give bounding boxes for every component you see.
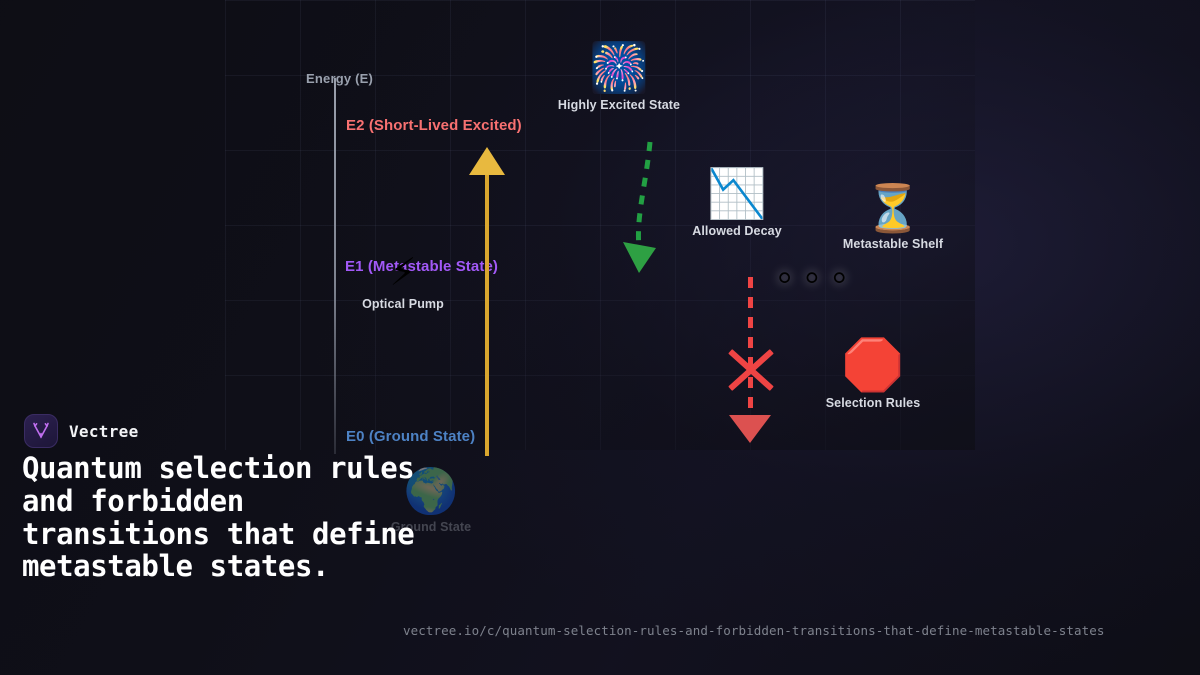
white-circle-icon: ⚪ xyxy=(830,268,849,291)
photon-dots-group: ⚪ ⚪ ⚪ xyxy=(775,268,849,291)
stop-sign-icon: 🛑 xyxy=(808,340,938,390)
node-caption-metastable-shelf: Metastable Shelf xyxy=(828,237,958,251)
brand-name: Vectree xyxy=(69,422,139,441)
white-circle-icon: ⚪ xyxy=(802,268,821,291)
slide-canvas: Energy (E) E2 (Short-Lived Excited) E1 (… xyxy=(0,0,1200,675)
lightning-bolt-icon: ⚡ xyxy=(338,253,468,291)
node-caption-optical-pump: Optical Pump xyxy=(338,297,468,311)
hourglass-icon: ⏳ xyxy=(828,185,958,231)
node-selection-rules: 🛑 Selection Rules xyxy=(808,340,938,410)
optical-pump-arrow-head xyxy=(469,147,505,175)
level-label-e0: E0 (Ground State) xyxy=(346,428,475,445)
white-circle-icon: ⚪ xyxy=(775,268,794,291)
node-allowed-decay: 📉 Allowed Decay xyxy=(672,170,802,238)
node-optical-pump: ⚡ Optical Pump xyxy=(338,253,468,311)
page-url: vectree.io/c/quantum-selection-rules-and… xyxy=(403,623,1105,638)
energy-axis-line xyxy=(334,78,336,454)
chart-decreasing-icon: 📉 xyxy=(672,170,802,218)
node-metastable-shelf: ⏳ Metastable Shelf xyxy=(828,185,958,251)
energy-axis-label: Energy (E) xyxy=(306,71,373,86)
node-caption-allowed-decay: Allowed Decay xyxy=(672,224,802,238)
level-label-e2: E2 (Short-Lived Excited) xyxy=(346,117,522,134)
node-highly-excited-state: 🎆 Highly Excited State xyxy=(554,44,684,112)
forbidden-transition-arrowhead xyxy=(729,415,771,443)
fireworks-icon: 🎆 xyxy=(554,44,684,92)
page-title: Quantum selection rules and forbidden tr… xyxy=(22,452,422,583)
vectree-v-tree-icon xyxy=(24,414,58,448)
allowed-decay-arrow xyxy=(610,130,680,280)
brand-lockup: Vectree xyxy=(24,414,139,448)
forbidden-cross-icon xyxy=(726,344,776,394)
node-caption-selection-rules: Selection Rules xyxy=(808,396,938,410)
optical-pump-arrow-shaft xyxy=(485,170,489,456)
node-caption-highly-excited-state: Highly Excited State xyxy=(554,98,684,112)
